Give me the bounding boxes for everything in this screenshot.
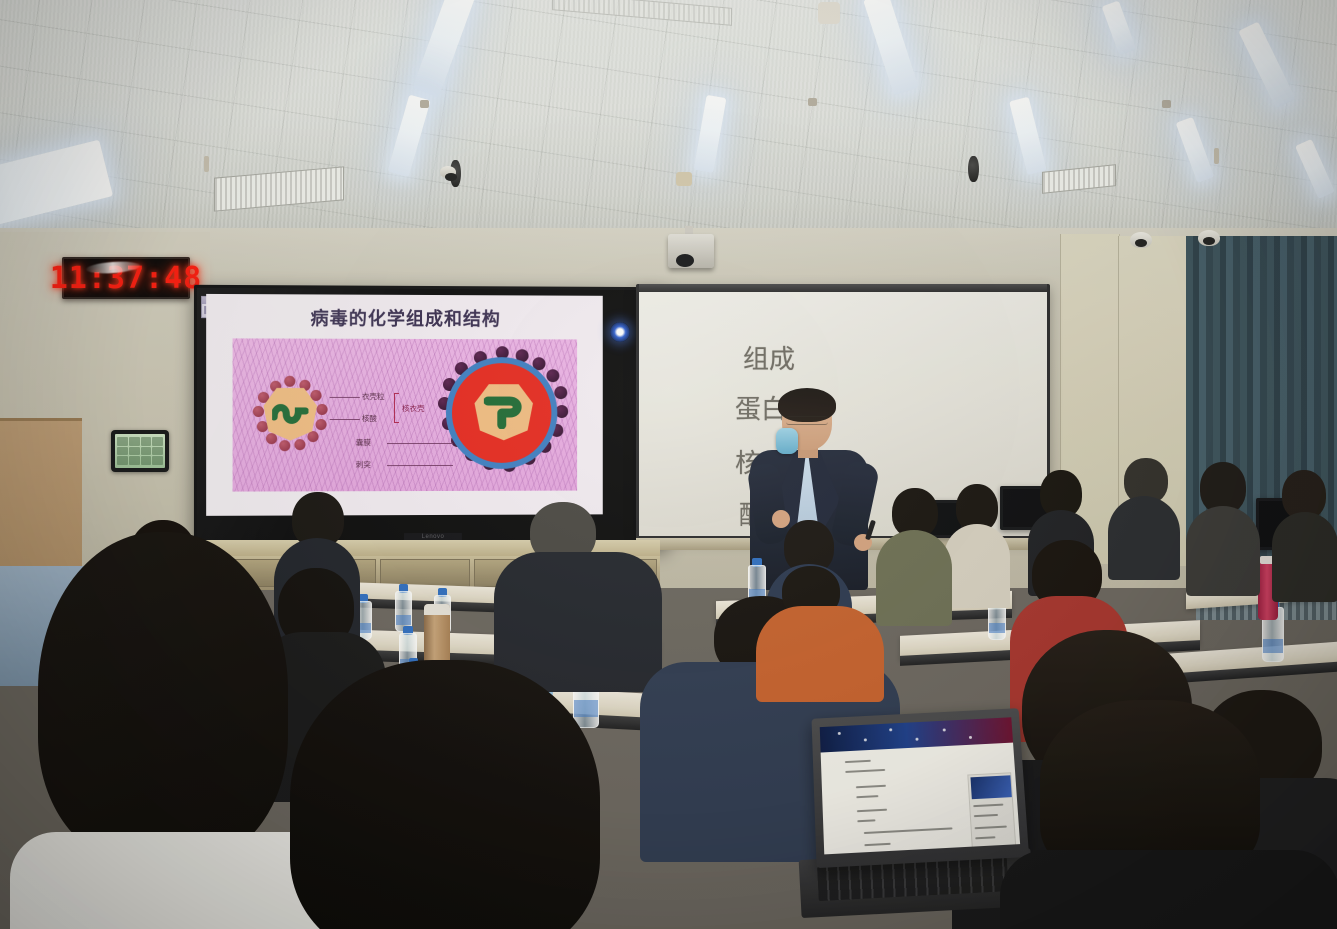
ceiling-tile-texture	[0, 0, 1337, 250]
text-line	[856, 795, 878, 798]
text-line	[864, 827, 953, 834]
ceiling-sensor	[818, 2, 840, 24]
slide-title: 病毒的化学组成和结构	[206, 304, 603, 332]
control-button[interactable]	[129, 447, 140, 456]
label-nucleic-acid: 核酸	[362, 413, 377, 424]
control-button[interactable]	[152, 447, 163, 456]
handheld-microphone[interactable]	[776, 428, 798, 454]
label-envelope: 囊膜	[356, 437, 371, 448]
control-button[interactable]	[152, 456, 163, 465]
control-button[interactable]	[152, 437, 163, 446]
control-button[interactable]	[141, 437, 152, 446]
control-button[interactable]	[129, 456, 140, 465]
control-button[interactable]	[141, 456, 152, 465]
student-head-long-hair	[290, 660, 600, 929]
whiteboard-note: 组成	[743, 339, 795, 376]
student-torso	[756, 606, 884, 702]
security-camera-icon	[1198, 230, 1220, 246]
nucleic-acid-strand	[484, 395, 526, 429]
bottle-label	[396, 615, 411, 625]
control-button[interactable]	[117, 437, 128, 446]
presentation-slide: 病毒的化学组成和结构	[206, 294, 603, 516]
student	[944, 484, 1010, 600]
student	[1000, 700, 1337, 929]
text-line	[856, 785, 886, 789]
text-line	[857, 819, 875, 822]
text-line	[857, 809, 887, 813]
student-torso	[1186, 506, 1260, 596]
control-button[interactable]	[117, 447, 128, 456]
ceiling-speaker	[968, 156, 979, 182]
label-spike: 刺突	[356, 459, 371, 470]
blue-logo-badge	[610, 322, 630, 342]
foreground-laptop[interactable]: #3a3a3d	[800, 712, 1032, 912]
student	[1272, 470, 1337, 596]
student	[756, 566, 884, 686]
student	[230, 660, 650, 929]
nucleic-acid-strand	[272, 401, 308, 425]
wall-control-panel[interactable]	[111, 430, 169, 472]
student-torso	[1272, 512, 1337, 602]
laptop-screen[interactable]	[820, 717, 1020, 854]
student	[1186, 462, 1260, 590]
label-leader-line	[330, 419, 360, 420]
student-torso	[1000, 850, 1337, 929]
naked-virus-diagram	[253, 377, 328, 452]
text-line	[845, 769, 885, 773]
text-line	[864, 843, 890, 846]
text-line	[845, 760, 871, 763]
control-panel-screen[interactable]	[115, 434, 165, 468]
light-end-cap	[808, 98, 817, 106]
bottle-label	[1263, 639, 1283, 653]
label-leader-line	[387, 443, 453, 444]
light-end-cap	[1162, 100, 1171, 108]
control-button[interactable]	[129, 437, 140, 446]
label-leader-line	[330, 397, 360, 398]
laptop-lid[interactable]	[812, 708, 1030, 868]
lecture-hall-photo: 11:37:48 病毒的化学组成和结构	[0, 0, 1337, 929]
whiteboard-top-frame	[639, 284, 1047, 292]
label-nucleocapsid: 核衣壳	[402, 403, 425, 414]
thermos-lid	[424, 604, 450, 615]
light-end-cap	[420, 100, 429, 108]
text-line	[973, 804, 1003, 808]
screen-document-body	[821, 743, 1020, 855]
text-line	[975, 836, 995, 839]
virus-structure-figure: 衣壳粒 核酸 囊膜 刺突 核衣壳	[233, 338, 578, 491]
student-torso	[944, 524, 1010, 608]
security-camera-icon	[1130, 232, 1152, 248]
control-button[interactable]	[117, 456, 128, 465]
text-line	[974, 814, 998, 817]
label-capsomere: 衣壳粒	[362, 391, 385, 402]
sprinkler-head	[1214, 148, 1219, 164]
nucleocapsid-brace	[394, 393, 399, 423]
enveloped-virus-diagram	[438, 349, 565, 477]
eyeglasses-icon	[786, 416, 828, 425]
sprinkler-head	[204, 156, 209, 172]
water-bottle	[395, 584, 412, 632]
ceiling	[0, 0, 1337, 250]
label-leader-line	[387, 465, 453, 466]
security-camera-icon	[440, 166, 456, 178]
projector-lens-icon	[676, 254, 694, 267]
control-button[interactable]	[141, 447, 152, 456]
smoke-detector	[676, 172, 692, 186]
